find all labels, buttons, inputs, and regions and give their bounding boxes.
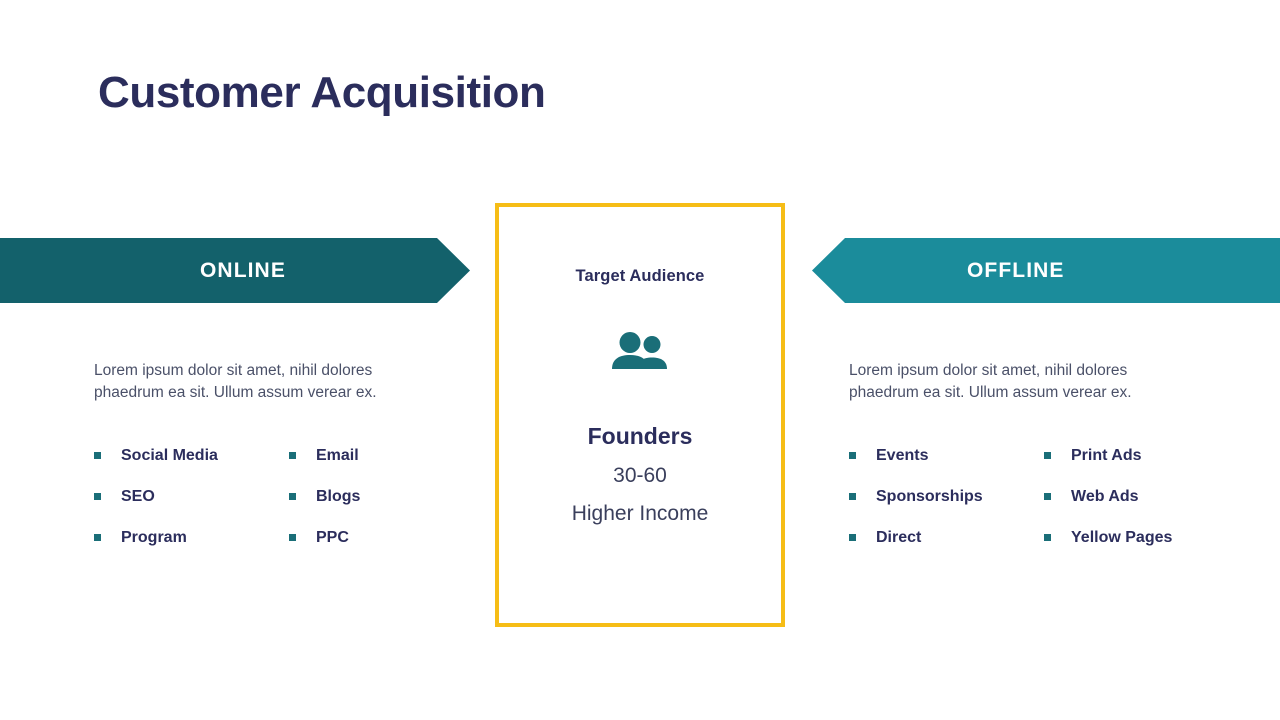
list-item-label: Social Media — [121, 447, 218, 465]
page-title: Customer Acquisition — [98, 68, 546, 118]
offline-banner-label: OFFLINE — [967, 259, 1065, 283]
list-item[interactable]: Direct — [849, 529, 1044, 547]
online-description: Lorem ipsum dolor sit amet, nihil dolore… — [94, 360, 439, 405]
list-item-label: SEO — [121, 488, 155, 506]
offline-content-column: Lorem ipsum dolor sit amet, nihil dolore… — [849, 360, 1194, 547]
offline-bullet-grid: Events Sponsorships Direct Print Ads Web… — [849, 447, 1194, 547]
square-bullet-icon — [1044, 452, 1051, 459]
square-bullet-icon — [289, 452, 296, 459]
square-bullet-icon — [94, 493, 101, 500]
online-bullet-column-b: Email Blogs PPC — [289, 447, 439, 547]
offline-bullet-column-a: Events Sponsorships Direct — [849, 447, 1044, 547]
list-item[interactable]: Sponsorships — [849, 488, 1044, 506]
offline-description: Lorem ipsum dolor sit amet, nihil dolore… — [849, 360, 1194, 405]
card-heading: Founders — [588, 423, 693, 450]
square-bullet-icon — [94, 534, 101, 541]
square-bullet-icon — [849, 493, 856, 500]
list-item[interactable]: Web Ads — [1044, 488, 1194, 506]
square-bullet-icon — [289, 493, 296, 500]
list-item-label: Sponsorships — [876, 488, 983, 506]
online-bullet-grid: Social Media SEO Program Email Blogs — [94, 447, 439, 547]
list-item-label: Yellow Pages — [1071, 529, 1172, 547]
card-income: Higher Income — [572, 502, 709, 526]
list-item[interactable]: Blogs — [289, 488, 439, 506]
list-item-label: Blogs — [316, 488, 360, 506]
offline-banner: OFFLINE — [812, 238, 1280, 303]
square-bullet-icon — [1044, 534, 1051, 541]
list-item-label: Web Ads — [1071, 488, 1139, 506]
list-item[interactable]: Yellow Pages — [1044, 529, 1194, 547]
two-people-icon — [612, 331, 668, 371]
list-item[interactable]: Print Ads — [1044, 447, 1194, 465]
target-audience-card: Target Audience Founders 30-60 Higher In… — [495, 203, 785, 627]
offline-bullet-column-b: Print Ads Web Ads Yellow Pages — [1044, 447, 1194, 547]
list-item[interactable]: SEO — [94, 488, 289, 506]
list-item[interactable]: PPC — [289, 529, 439, 547]
list-item[interactable]: Events — [849, 447, 1044, 465]
online-bullet-column-a: Social Media SEO Program — [94, 447, 289, 547]
square-bullet-icon — [849, 534, 856, 541]
card-title: Target Audience — [576, 267, 705, 286]
list-item-label: Email — [316, 447, 359, 465]
list-item[interactable]: Program — [94, 529, 289, 547]
square-bullet-icon — [94, 452, 101, 459]
list-item[interactable]: Email — [289, 447, 439, 465]
list-item[interactable]: Social Media — [94, 447, 289, 465]
list-item-label: Program — [121, 529, 187, 547]
square-bullet-icon — [289, 534, 296, 541]
online-content-column: Lorem ipsum dolor sit amet, nihil dolore… — [94, 360, 439, 547]
online-banner: ONLINE — [0, 238, 470, 303]
list-item-label: Events — [876, 447, 928, 465]
square-bullet-icon — [1044, 493, 1051, 500]
card-age-range: 30-60 — [613, 464, 667, 488]
list-item-label: PPC — [316, 529, 349, 547]
list-item-label: Print Ads — [1071, 447, 1142, 465]
online-banner-label: ONLINE — [200, 259, 286, 283]
list-item-label: Direct — [876, 529, 921, 547]
square-bullet-icon — [849, 452, 856, 459]
